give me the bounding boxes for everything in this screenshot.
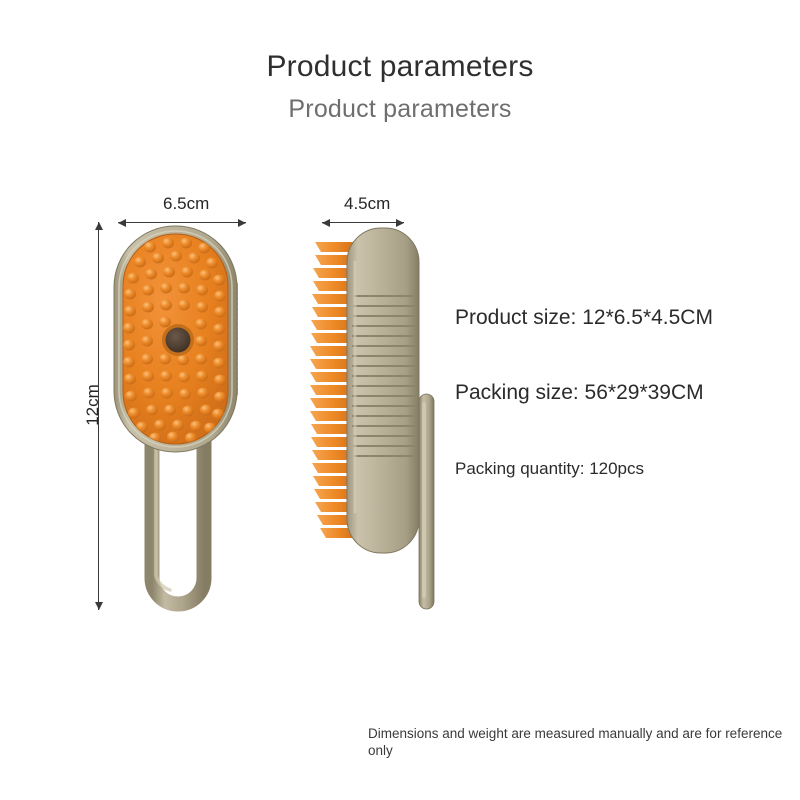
product-parameters-page: Product parameters Product parameters (0, 0, 800, 800)
pet-grooming-brush-side-view (295, 212, 475, 632)
page-subtitle: Product parameters (0, 95, 800, 124)
dim-arrow-width-front (118, 222, 246, 223)
pet-grooming-brush-front-view (100, 218, 265, 628)
silicone-brush-pad (123, 234, 228, 444)
spec-product-size: Product size: 12*6.5*4.5CM (455, 306, 713, 330)
page-title: Product parameters (0, 50, 800, 84)
dim-label-width-front: 6.5cm (163, 194, 209, 214)
footer-disclaimer: Dimensions and weight are measured manua… (368, 725, 788, 759)
brush-body-side (347, 228, 419, 553)
spec-packing-quantity: Packing quantity: 120pcs (455, 459, 644, 479)
dim-label-width-side: 4.5cm (344, 194, 390, 214)
side-view-handle (419, 394, 434, 609)
brush-handle-loop (152, 433, 204, 604)
dim-label-height: 12cm (83, 384, 103, 426)
center-hole (162, 324, 194, 356)
dim-arrow-width-side (322, 222, 404, 223)
spec-packing-size: Packing size: 56*29*39CM (455, 381, 704, 405)
dim-arrow-height (98, 222, 99, 610)
